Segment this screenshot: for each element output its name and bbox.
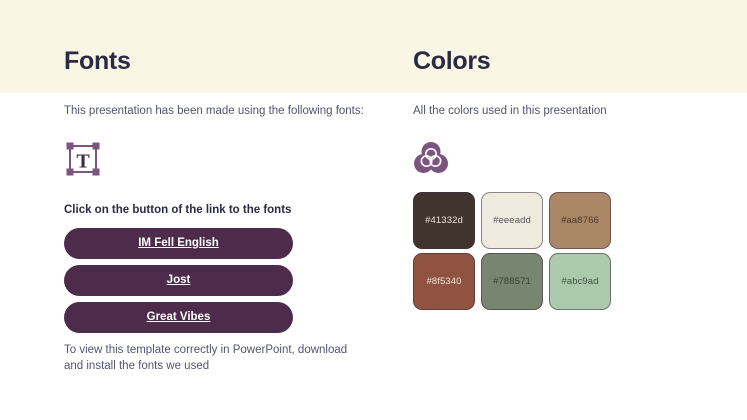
fonts-footnote: To view this template correctly in Power… — [64, 342, 364, 374]
color-palette-icon — [413, 140, 449, 181]
slide-canvas: Fonts This presentation has been made us… — [0, 0, 747, 420]
color-swatch[interactable]: #abc9ad — [549, 253, 611, 310]
font-link-button-great-vibes[interactable]: Great Vibes — [64, 302, 293, 333]
color-swatch-label: #788571 — [493, 276, 531, 287]
color-swatch-label: #41332d — [425, 215, 463, 226]
color-swatch-label: #8f5340 — [426, 276, 461, 287]
color-swatch-label: #eeeadd — [493, 215, 531, 226]
font-link-button-jost[interactable]: Jost — [64, 265, 293, 296]
color-swatch[interactable]: #8f5340 — [413, 253, 475, 310]
color-swatch[interactable]: #aa8766 — [549, 192, 611, 249]
color-swatch-grid: #41332d #eeeadd #aa8766 #8f5340 #788571 … — [413, 192, 611, 310]
svg-text:T: T — [76, 151, 90, 173]
fonts-section-title: Fonts — [64, 49, 131, 74]
color-swatch[interactable]: #788571 — [481, 253, 543, 310]
color-swatch-label: #abc9ad — [561, 276, 598, 287]
colors-lead-text: All the colors used in this presentation — [413, 103, 713, 119]
font-link-button-stack: IM Fell English Jost Great Vibes — [64, 228, 293, 339]
fonts-subhead: Click on the button of the link to the f… — [64, 204, 291, 216]
font-link-button-im-fell-english[interactable]: IM Fell English — [64, 228, 293, 259]
text-format-icon: T — [64, 140, 102, 183]
color-swatch[interactable]: #41332d — [413, 192, 475, 249]
color-swatch-label: #aa8766 — [561, 215, 599, 226]
colors-section-title: Colors — [413, 49, 490, 74]
color-swatch[interactable]: #eeeadd — [481, 192, 543, 249]
fonts-lead-text: This presentation has been made using th… — [64, 103, 364, 119]
